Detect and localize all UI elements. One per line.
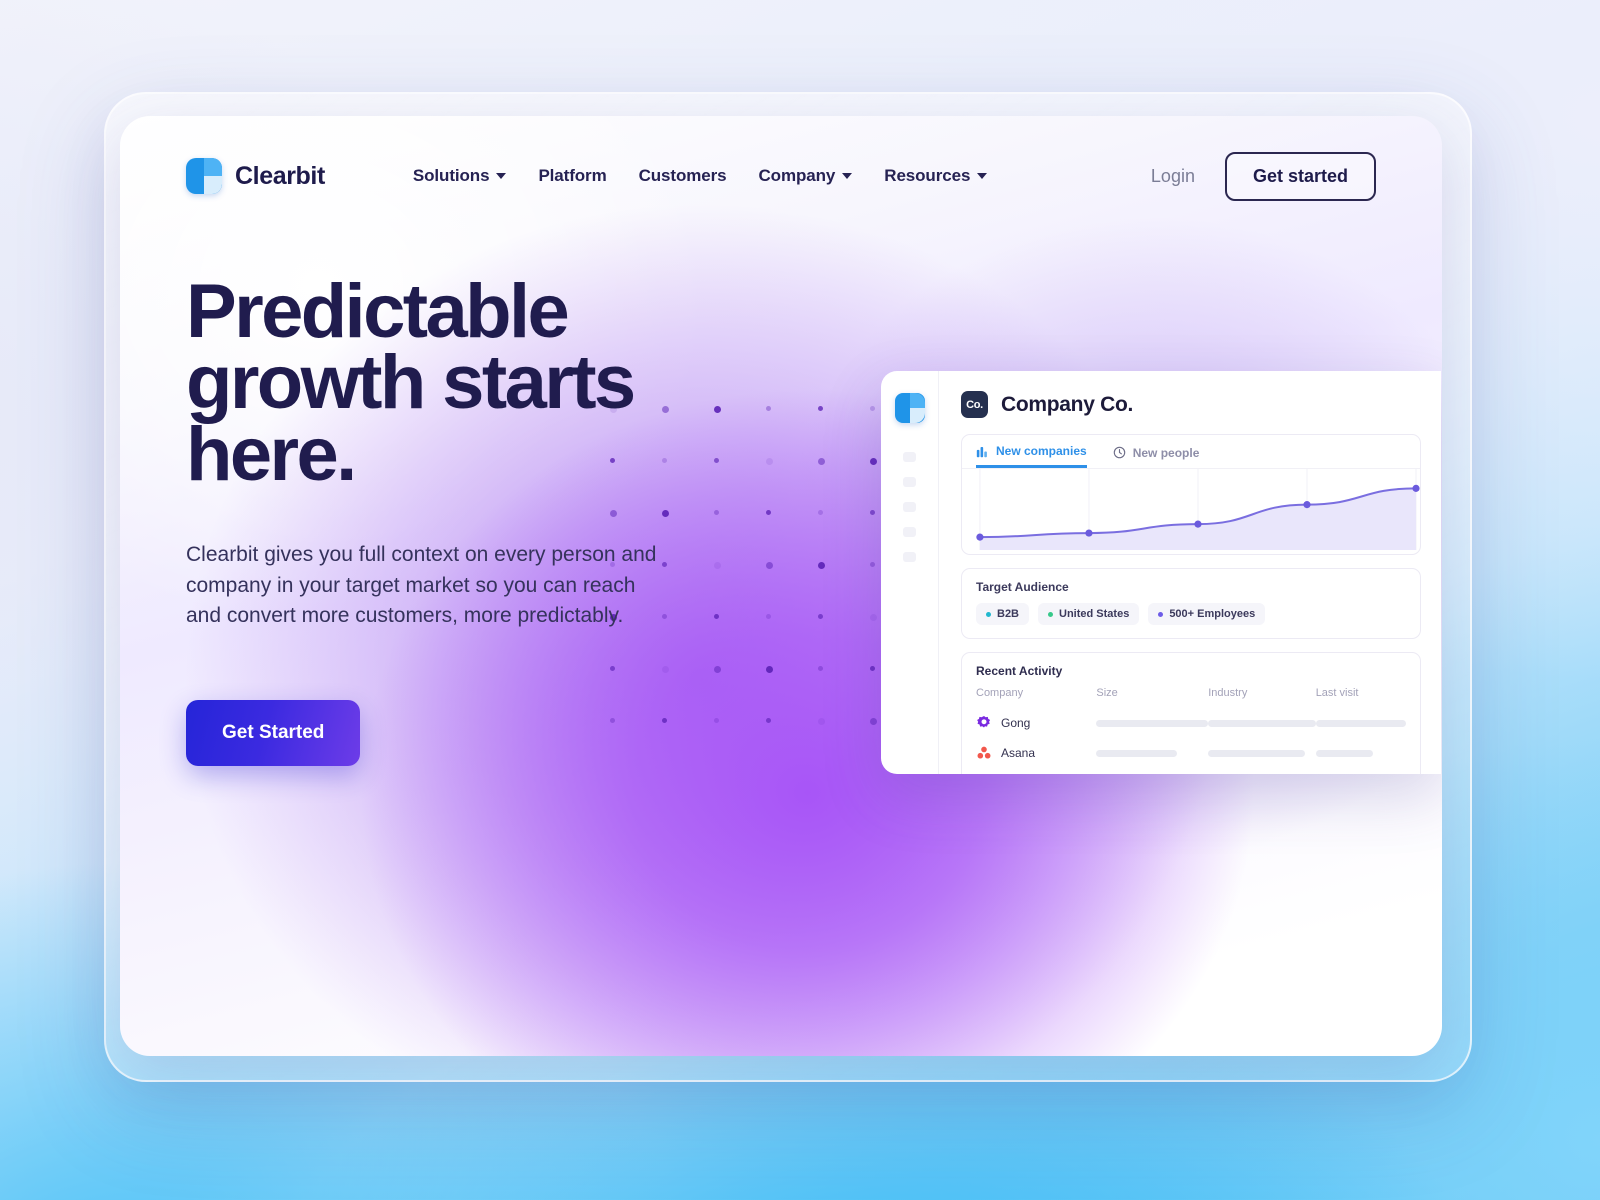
chevron-down-icon [496,173,506,179]
company-title: Company Co. [1001,393,1133,417]
company-cell: Asana [976,745,1096,761]
chart-panel: New companies New people [961,434,1421,555]
hero-section: Predictable growth starts here. Clearbit… [186,276,726,766]
last-visit-placeholder-bar [1316,720,1406,727]
dashboard-preview-card: Co. Company Co. New companies [881,371,1441,774]
chip-b2b[interactable]: B2B [976,603,1029,625]
page-title: Predictable growth starts here. [186,276,726,490]
last-visit-placeholder-bar [1316,750,1374,757]
dashboard-main: Co. Company Co. New companies [939,371,1441,774]
get-started-button[interactable]: Get started [1225,152,1376,201]
target-audience-panel: Target Audience B2B United States 500+ E… [961,568,1421,639]
table-row[interactable]: Asana [976,738,1406,768]
company-avatar: Co. [961,391,988,418]
asana-logo-icon [976,745,992,761]
nav-actions: Login Get started [1151,152,1376,201]
chip-employees[interactable]: 500+ Employees [1148,603,1265,625]
nav-item-customers[interactable]: Customers [639,166,727,186]
nav-item-solutions-label: Solutions [413,166,490,186]
clock-icon [1113,446,1126,459]
nav-item-solutions[interactable]: Solutions [413,166,507,186]
chip-united-states-label: United States [1059,608,1129,620]
chip-dot-icon [1048,612,1053,617]
tab-new-companies[interactable]: New companies [976,444,1087,468]
sidebar-placeholder-item[interactable] [903,502,916,512]
chevron-down-icon [842,173,852,179]
hero-subtext: Clearbit gives you full context on every… [186,540,676,631]
clearbit-logo-icon [186,158,222,194]
login-link[interactable]: Login [1151,166,1195,187]
brand-name: Clearbit [235,162,325,191]
recent-activity-panel: Recent Activity Company Size Industry La… [961,652,1421,774]
chip-b2b-label: B2B [997,608,1019,620]
chip-united-states[interactable]: United States [1038,603,1139,625]
page-screen: Clearbit Solutions Platform Customers Co… [120,116,1442,1056]
company-name: Asana [1001,746,1035,760]
chip-dot-icon [1158,612,1163,617]
tab-new-companies-label: New companies [996,444,1087,458]
dashboard-header: Co. Company Co. [961,391,1421,418]
sidebar-placeholder-item[interactable] [903,452,916,462]
nav-item-customers-label: Customers [639,166,727,186]
dashboard-sidebar [881,371,939,774]
sidebar-placeholder-item[interactable] [903,477,916,487]
heading-line-3: here. [186,412,355,497]
table-row[interactable]: Gong [976,708,1406,738]
tab-new-people[interactable]: New people [1113,444,1200,468]
tab-new-people-label: New people [1133,446,1200,460]
gong-logo-icon [976,715,992,731]
top-navigation: Clearbit Solutions Platform Customers Co… [120,116,1442,236]
brand-logo[interactable]: Clearbit [186,158,325,194]
bar-chart-icon [976,445,989,458]
nav-links: Solutions Platform Customers Company Res… [413,166,987,186]
nav-item-company-label: Company [759,166,836,186]
recent-activity-title: Recent Activity [976,664,1406,678]
table-header-row: Company Size Industry Last visit [976,687,1406,708]
target-audience-title: Target Audience [976,580,1406,594]
clearbit-logo-icon [895,393,925,423]
sidebar-placeholder-item[interactable] [903,527,916,537]
target-audience-chips: B2B United States 500+ Employees [976,603,1406,625]
nav-item-resources-label: Resources [884,166,970,186]
industry-placeholder-bar [1208,750,1305,757]
chip-employees-label: 500+ Employees [1169,608,1255,620]
chart-svg [962,469,1420,550]
nav-item-resources[interactable]: Resources [884,166,987,186]
company-name: Gong [1001,716,1030,730]
column-industry: Industry [1208,687,1316,708]
recent-activity-table: Company Size Industry Last visit [976,687,1406,768]
chart-tabs: New companies New people [962,435,1420,469]
new-companies-area-chart [962,469,1420,550]
company-cell: Gong [976,715,1096,731]
hero-get-started-button[interactable]: Get Started [186,700,360,766]
industry-placeholder-bar [1208,720,1316,727]
column-company: Company [976,687,1096,708]
column-size: Size [1096,687,1208,708]
chevron-down-icon [977,173,987,179]
nav-item-platform[interactable]: Platform [538,166,606,186]
sidebar-placeholder-item[interactable] [903,552,916,562]
column-last-visit: Last visit [1316,687,1406,708]
nav-item-company[interactable]: Company [759,166,853,186]
size-placeholder-bar [1096,750,1176,757]
nav-item-platform-label: Platform [538,166,606,186]
size-placeholder-bar [1096,720,1208,727]
chip-dot-icon [986,612,991,617]
